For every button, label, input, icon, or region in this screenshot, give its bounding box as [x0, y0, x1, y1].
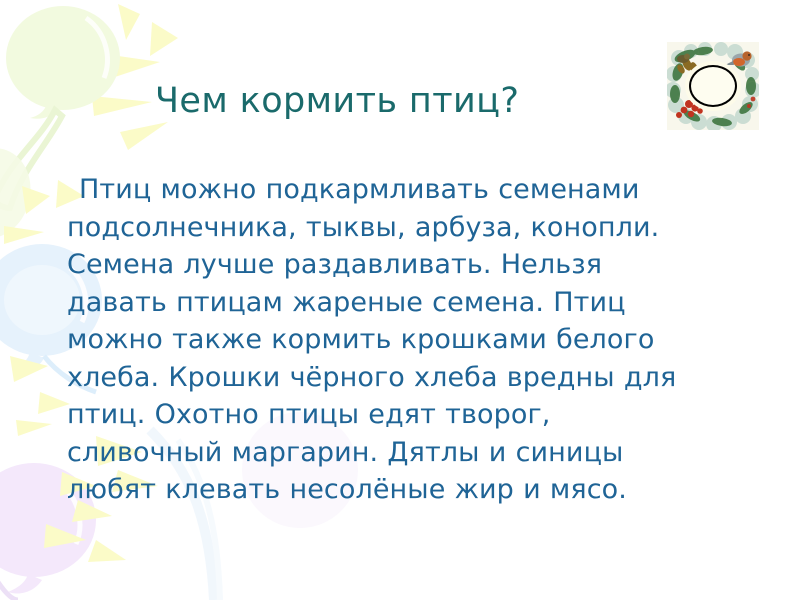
yellow-sun-rays-lower-icon: [10, 356, 70, 436]
green-balloon-outline-icon: [0, 148, 31, 240]
wreath-picture: [667, 42, 759, 130]
yellow-sun-rays-top-icon: [92, 4, 178, 150]
slide-body-text: Птиц можно подкармливать семенами подсол…: [67, 171, 707, 509]
slide-title: Чем кормить птиц?: [155, 81, 675, 121]
slide-canvas: Чем кормить птиц?: [0, 0, 800, 600]
